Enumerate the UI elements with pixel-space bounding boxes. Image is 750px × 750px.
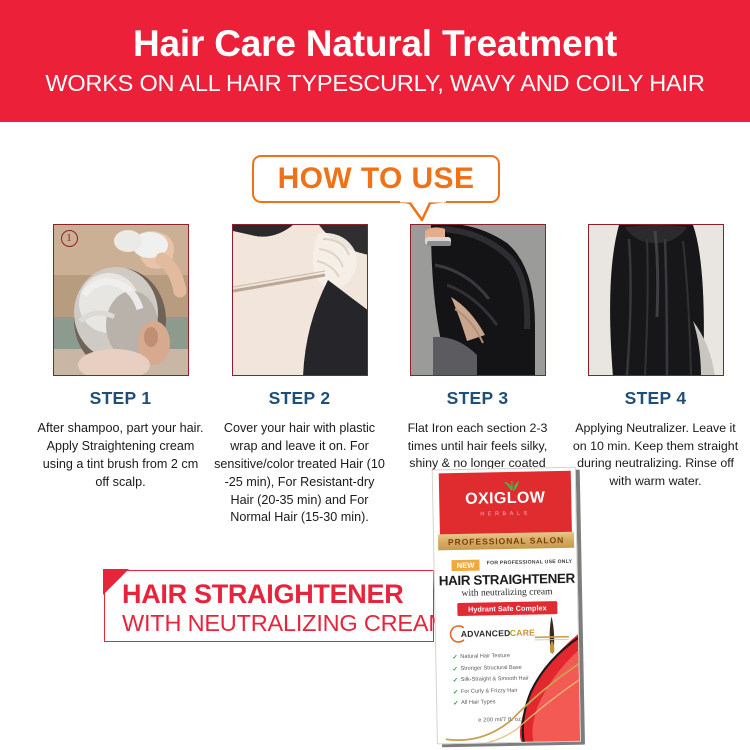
check-icon: ✓	[452, 664, 458, 676]
how-to-use-bubble: HOW TO USE	[252, 155, 500, 203]
how-to-use-label: HOW TO USE	[278, 162, 475, 196]
step-1-photo: 1	[53, 224, 189, 376]
check-icon: ✓	[452, 652, 458, 664]
step-card-3: STEP 3 Flat Iron each section 2-3 times …	[390, 224, 565, 473]
step-3-photo	[410, 224, 546, 376]
product-brand-header: OXIGLOW HERBALS	[439, 471, 572, 536]
step-card-2: STEP 2 Cover your hair with plastic wrap…	[212, 224, 387, 527]
professional-use-note: FOR PROFESSIONAL USE ONLY	[486, 559, 572, 567]
brand-name: OXIGLOW	[439, 489, 571, 510]
infographic-page: Hair Care Natural Treatment WORKS ON ALL…	[0, 0, 750, 750]
benefit-item: ✓All Hair Types	[453, 696, 561, 710]
step-2-label: STEP 2	[212, 388, 387, 409]
page-subtitle: WORKS ON ALL HAIR TYPESCURLY, WAVY AND C…	[45, 70, 704, 97]
step-2-body: Cover your hair with plastic wrap and le…	[212, 420, 387, 527]
benefit-label: Natural Hair Texture	[460, 653, 510, 660]
step-3-body: Flat Iron each section 2-3 times until h…	[390, 420, 565, 473]
benefit-label: Stronger Structural Base	[460, 664, 521, 671]
product-box-front: OXIGLOW HERBALS PROFESSIONAL SALON NEW F…	[432, 467, 581, 745]
header-banner: Hair Care Natural Treatment WORKS ON ALL…	[0, 0, 750, 122]
how-to-use-callout: HOW TO USE	[252, 155, 500, 203]
step-card-1: 1 STEP 1 After shampoo, part your hair. …	[33, 224, 208, 492]
benefit-label: All Hair Types	[461, 700, 496, 707]
step-4-photo	[588, 224, 724, 376]
step-2-photo	[232, 224, 368, 376]
step-1-badge: 1	[61, 230, 78, 247]
page-title: Hair Care Natural Treatment	[133, 25, 617, 64]
speech-bubble-tail-icon	[400, 200, 446, 222]
check-icon: ✓	[453, 687, 459, 699]
banner-line-1: HAIR STRAIGHTENER	[122, 579, 403, 610]
benefits-list: ✓Natural Hair Texture ✓Stronger Structur…	[452, 650, 561, 710]
step-4-label: STEP 4	[568, 388, 743, 409]
check-icon: ✓	[453, 698, 459, 710]
step-1-label: STEP 1	[33, 388, 208, 409]
step-card-4: STEP 4 Applying Neutralizer. Leave it on…	[568, 224, 743, 490]
benefit-label: Silk-Straight & Smooth Hair	[461, 676, 529, 683]
brand-subname: HERBALS	[440, 510, 572, 519]
new-badge: NEW	[451, 560, 479, 572]
step-1-body: After shampoo, part your hair. Apply Str…	[33, 420, 208, 492]
benefit-label: For Curly & Frizzy Hair	[461, 688, 518, 695]
professional-salon-label: PROFESSIONAL SALON	[448, 535, 564, 547]
check-icon: ✓	[453, 675, 459, 687]
step-4-body: Applying Neutralizer. Leave it on 10 min…	[568, 420, 743, 490]
banner-line-2: WITH NEUTRALIZING CREAM	[122, 610, 448, 637]
hydrant-safe-complex-label: Hydrant Safe Complex	[468, 603, 547, 614]
product-subtitle: with neutralizing cream	[435, 586, 579, 600]
new-badge-label: NEW	[457, 561, 475, 570]
product-name-banner: HAIR STRAIGHTENER WITH NEUTRALIZING CREA…	[104, 570, 434, 642]
product-box: OXIGLOW HERBALS PROFESSIONAL SALON NEW F…	[432, 467, 585, 748]
professional-salon-band: PROFESSIONAL SALON	[438, 532, 574, 551]
step-3-label: STEP 3	[390, 388, 565, 409]
advanced-word: ADVANCED	[461, 628, 511, 639]
